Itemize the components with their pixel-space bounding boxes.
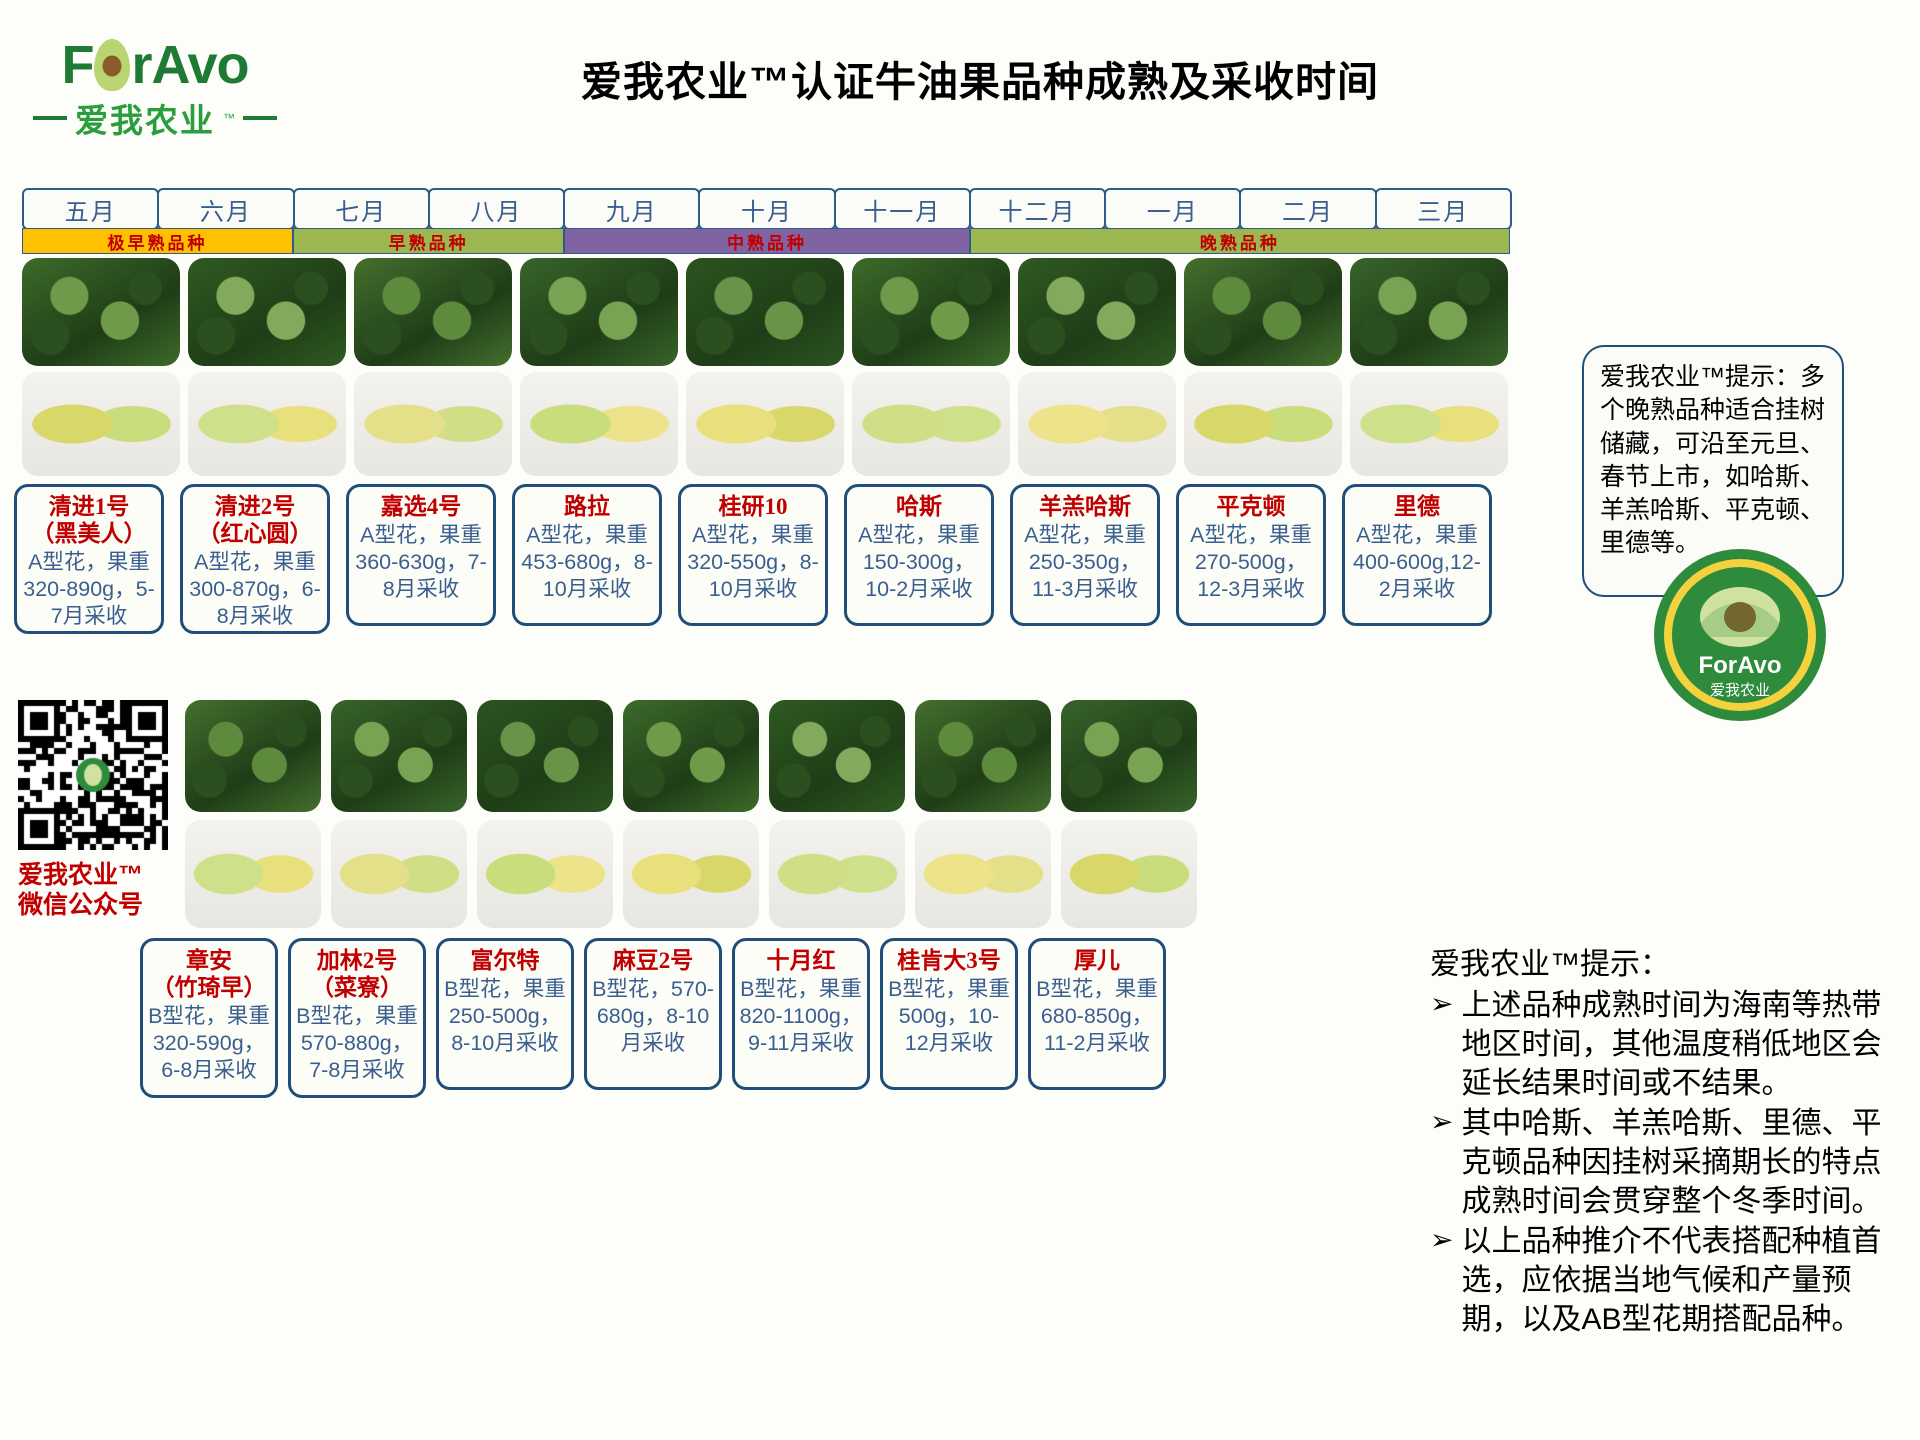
avocado-fruit-photo (915, 820, 1051, 928)
variety-card[interactable]: 十月红B型花，果重820-1100g，9-11月采收 (732, 938, 870, 1090)
avocado-fruit-photo (331, 820, 467, 928)
variety-description: A型花，果重360-630g，7-8月采收 (353, 522, 489, 603)
avocado-on-tree-photo (188, 258, 346, 366)
month-cell: 十一月 (834, 188, 971, 230)
qr-code-canvas (18, 700, 168, 850)
month-cell: 七月 (293, 188, 430, 230)
maturity-band-timeline: 极早熟品种早熟品种中熟品种晚熟品种 (22, 228, 1510, 254)
avocado-icon (94, 39, 130, 91)
avocado-fruit-photo (188, 372, 346, 476)
logo-dash-right (243, 116, 277, 120)
variety-card[interactable]: 路拉A型花，果重453-680g，8-10月采收 (512, 484, 662, 626)
row-b-tree-photos (185, 700, 1207, 812)
avocado-fruit-photo (1350, 372, 1508, 476)
variety-name: 十月红 (767, 947, 836, 974)
month-cell: 十二月 (969, 188, 1106, 230)
footer-note-text: 其中哈斯、羊羔哈斯、里德、平克顿品种因挂树采摘期长的特点成熟时间会贯穿整个冬季时… (1461, 1104, 1908, 1221)
variety-card[interactable]: 麻豆2号B型花，570-680g，8-10月采收 (584, 938, 722, 1090)
wechat-qr-block: 爱我农业™ 微信公众号 (18, 700, 168, 920)
avocado-fruit-photo (852, 372, 1010, 476)
footer-notes-title: 爱我农业™提示： (1430, 945, 1908, 984)
variety-card[interactable]: 桂研10A型花，果重320-550g，8-10月采收 (678, 484, 828, 626)
variety-description: A型花，果重270-500g，12-3月采收 (1183, 522, 1319, 603)
variety-name: 麻豆2号 (613, 947, 694, 974)
avocado-fruit-photo (1018, 372, 1176, 476)
maturity-band: 极早熟品种 (22, 228, 293, 254)
variety-name: 厚儿 (1074, 947, 1120, 974)
foravo-logo: FrAvo 爱我农业 ™ (20, 30, 290, 150)
variety-name: 羊羔哈斯 (1039, 493, 1131, 520)
variety-description: A型花，果重453-680g，8-10月采收 (519, 522, 655, 603)
avocado-on-tree-photo (331, 700, 467, 812)
avocado-fruit-photo (686, 372, 844, 476)
avocado-fruit-photo (769, 820, 905, 928)
month-cell: 二月 (1239, 188, 1376, 230)
avocado-on-tree-photo (852, 258, 1010, 366)
avocado-on-tree-photo (1350, 258, 1508, 366)
avocado-on-tree-photo (477, 700, 613, 812)
variety-card[interactable]: 章安（竹琦早）B型花，果重320-590g，6-8月采收 (140, 938, 278, 1098)
variety-description: A型花，果重400-600g,12-2月采收 (1349, 522, 1485, 603)
footer-note-item: ➢以上品种推介不代表搭配种植首选，应依据当地气候和产量预期，以及AB型花期搭配品… (1430, 1222, 1908, 1339)
variety-description: B型花，果重570-880g，7-8月采收 (295, 1003, 419, 1084)
footer-note-item: ➢上述品种成熟时间为海南等热带地区时间，其他温度稍低地区会延长结果时间或不结果。 (1430, 986, 1908, 1103)
variety-name: 章安 (186, 947, 232, 974)
footer-note-text: 以上品种推介不代表搭配种植首选，应依据当地气候和产量预期，以及AB型花期搭配品种… (1461, 1222, 1908, 1339)
avocado-fruit-photo (1061, 820, 1197, 928)
logo-letters-rest: rAvo (131, 38, 248, 92)
logo-subline: 爱我农业 ™ (33, 94, 277, 142)
variety-card[interactable]: 羊羔哈斯A型花，果重250-350g，11-3月采收 (1010, 484, 1160, 626)
avocado-fruit-photo (623, 820, 759, 928)
variety-card[interactable]: 富尔特B型花，果重250-500g，8-10月采收 (436, 938, 574, 1090)
avocado-on-tree-photo (354, 258, 512, 366)
avocado-fruit-photo (1184, 372, 1342, 476)
seal-chinese: 爱我农业 (1710, 682, 1770, 699)
logo-dash-left (33, 116, 67, 120)
variety-name: 清进1号 (49, 493, 130, 520)
variety-name: 里德 (1394, 493, 1440, 520)
row-a-variety-cards: 清进1号（黑美人）A型花，果重320-890g，5-7月采收清进2号（红心圆）A… (14, 484, 1508, 634)
avocado-on-tree-photo (623, 700, 759, 812)
variety-name: 富尔特 (471, 947, 540, 974)
logo-trademark-symbol: ™ (223, 111, 235, 125)
variety-card[interactable]: 里德A型花，果重400-600g,12-2月采收 (1342, 484, 1492, 626)
qr-caption-line2: 微信公众号 (18, 890, 168, 920)
month-cell: 九月 (563, 188, 700, 230)
variety-description: A型花，果重250-350g，11-3月采收 (1017, 522, 1153, 603)
footer-note-text: 上述品种成熟时间为海南等热带地区时间，其他温度稍低地区会延长结果时间或不结果。 (1461, 986, 1908, 1103)
arrow-bullet-icon: ➢ (1430, 1222, 1453, 1339)
month-cell: 一月 (1104, 188, 1241, 230)
footer-notes: 爱我农业™提示： ➢上述品种成熟时间为海南等热带地区时间，其他温度稍低地区会延长… (1430, 945, 1908, 1340)
logo-chinese-name: 爱我农业 (75, 94, 215, 142)
month-cell: 三月 (1375, 188, 1512, 230)
maturity-band: 早熟品种 (293, 228, 564, 254)
variety-description: B型花，果重320-590g，6-8月采收 (147, 1003, 271, 1084)
qr-code[interactable] (18, 700, 168, 850)
variety-name: 清进2号 (215, 493, 296, 520)
variety-description: B型花，果重500g，10-12月采收 (887, 976, 1011, 1057)
maturity-band: 晚熟品种 (970, 228, 1510, 254)
arrow-bullet-icon: ➢ (1430, 986, 1453, 1103)
row-b-fruit-photos (185, 820, 1207, 928)
variety-alias: （黑美人） (32, 520, 147, 547)
avocado-fruit-photo (520, 372, 678, 476)
variety-description: A型花，果重320-890g，5-7月采收 (21, 549, 157, 630)
variety-alias: （红心圆） (198, 520, 313, 547)
variety-name: 加林2号 (317, 947, 398, 974)
avocado-on-tree-photo (1061, 700, 1197, 812)
page-title: 爱我农业™认证牛油果品种成熟及采收时间 (330, 48, 1630, 108)
footer-note-item: ➢其中哈斯、羊羔哈斯、里德、平克顿品种因挂树采摘期长的特点成熟时间会贯穿整个冬季… (1430, 1104, 1908, 1221)
variety-card[interactable]: 平克顿A型花，果重270-500g，12-3月采收 (1176, 484, 1326, 626)
avocado-on-tree-photo (520, 258, 678, 366)
variety-name: 平克顿 (1217, 493, 1286, 520)
variety-card[interactable]: 厚儿B型花，果重680-850g，11-2月采收 (1028, 938, 1166, 1090)
avocado-fruit-photo (22, 372, 180, 476)
seal-wordmark: ForAvo (1698, 652, 1781, 679)
variety-alias: （竹琦早） (152, 974, 267, 1001)
arrow-bullet-icon: ➢ (1430, 1104, 1453, 1221)
footer-notes-list: ➢上述品种成熟时间为海南等热带地区时间，其他温度稍低地区会延长结果时间或不结果。… (1430, 986, 1908, 1339)
variety-card[interactable]: 哈斯A型花，果重150-300g，10-2月采收 (844, 484, 994, 626)
variety-alias: （菜寮） (311, 974, 403, 1001)
avocado-on-tree-photo (1018, 258, 1176, 366)
avocado-on-tree-photo (22, 258, 180, 366)
qr-caption: 爱我农业™ 微信公众号 (18, 860, 168, 920)
month-cell: 八月 (428, 188, 565, 230)
variety-description: A型花，果重150-300g，10-2月采收 (851, 522, 987, 603)
variety-card[interactable]: 桂肯大3号B型花，果重500g，10-12月采收 (880, 938, 1018, 1090)
variety-name: 嘉选4号 (381, 493, 462, 520)
page-header: FrAvo 爱我农业 ™ 爱我农业™认证牛油果品种成熟及采收时间 (0, 0, 1920, 168)
avocado-fruit-photo (354, 372, 512, 476)
variety-card[interactable]: 加林2号（菜寮）B型花，果重570-880g，7-8月采收 (288, 938, 426, 1098)
maturity-band: 中熟品种 (564, 228, 970, 254)
variety-description: B型花，果重820-1100g，9-11月采收 (739, 976, 863, 1057)
variety-description: A型花，果重300-870g，6-8月采收 (187, 549, 323, 630)
avocado-on-tree-photo (185, 700, 321, 812)
variety-description: B型花，果重680-850g，11-2月采收 (1035, 976, 1159, 1057)
variety-description: B型花，果重250-500g，8-10月采收 (443, 976, 567, 1057)
late-variety-tip-text: 爱我农业™提示：多个晚熟品种适合挂树储藏，可沿至元旦、春节上市，如哈斯、羊羔哈斯… (1600, 363, 1825, 557)
variety-description: B型花，570-680g，8-10月采收 (591, 976, 715, 1057)
seal-icon: ForAvo 爱我农业 (1640, 545, 1840, 725)
foravo-seal-badge: ForAvo 爱我农业 (1640, 545, 1840, 725)
row-a-fruit-photos (22, 372, 1516, 476)
month-cell: 五月 (22, 188, 159, 230)
avocado-on-tree-photo (1184, 258, 1342, 366)
variety-card[interactable]: 清进2号（红心圆）A型花，果重300-870g，6-8月采收 (180, 484, 330, 634)
avocado-fruit-photo (477, 820, 613, 928)
logo-letter-f: F (61, 38, 93, 92)
variety-name: 哈斯 (896, 493, 942, 520)
variety-name: 桂肯大3号 (897, 947, 1001, 974)
month-cell: 六月 (157, 188, 294, 230)
variety-description: A型花，果重320-550g，8-10月采收 (685, 522, 821, 603)
avocado-fruit-photo (185, 820, 321, 928)
variety-card[interactable]: 嘉选4号A型花，果重360-630g，7-8月采收 (346, 484, 496, 626)
variety-name: 路拉 (564, 493, 610, 520)
avocado-on-tree-photo (686, 258, 844, 366)
avocado-on-tree-photo (769, 700, 905, 812)
variety-card[interactable]: 清进1号（黑美人）A型花，果重320-890g，5-7月采收 (14, 484, 164, 634)
row-a-tree-photos (22, 258, 1516, 366)
qr-caption-line1: 爱我农业™ (18, 860, 168, 890)
month-cell: 十月 (698, 188, 835, 230)
variety-name: 桂研10 (719, 493, 788, 520)
logo-wordmark: FrAvo (61, 38, 248, 92)
month-timeline: 五月六月七月八月九月十月十一月十二月一月二月三月 (22, 188, 1510, 230)
row-b-variety-cards: 章安（竹琦早）B型花，果重320-590g，6-8月采收加林2号（菜寮）B型花，… (140, 938, 1176, 1098)
avocado-on-tree-photo (915, 700, 1051, 812)
